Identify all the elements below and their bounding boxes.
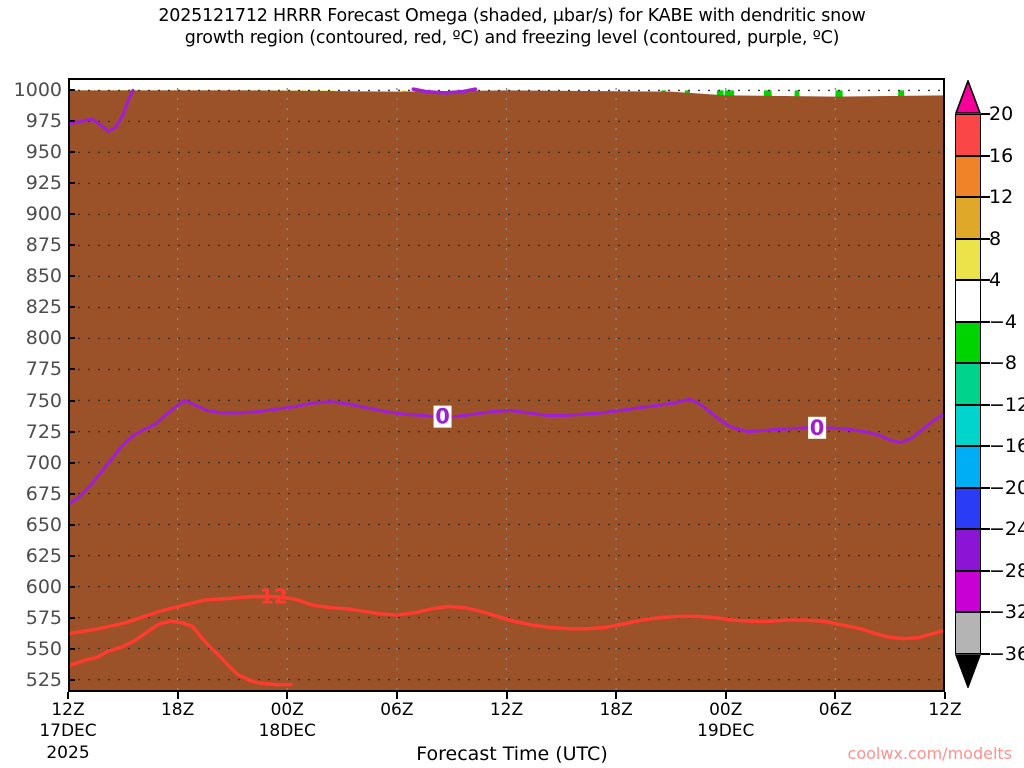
colorbar-swatch [955, 529, 981, 571]
y-tick-label: 700 [26, 452, 62, 474]
colorbar-tick-mark [981, 362, 990, 364]
x-tick-label: 12Z [928, 700, 961, 720]
x-axis-day-label: 19DEC [697, 721, 754, 741]
y-tick-label: 525 [26, 669, 62, 691]
colorbar-tick-label: 12 [989, 186, 1013, 208]
y-tick-label: 725 [26, 421, 62, 443]
colorbar-swatch [955, 612, 981, 654]
y-tick-label: 675 [26, 483, 62, 505]
y-tick-label: 650 [26, 514, 62, 536]
colorbar-tick-mark [981, 238, 990, 240]
x-tick-label: 06Z [819, 700, 852, 720]
title-line-1: 2025121712 HRRR Forecast Omega (shaded, … [0, 6, 1024, 28]
svg-text:0: 0 [435, 405, 450, 429]
colorbar-tick-label: 20 [989, 103, 1013, 125]
x-tick-label: 12Z [51, 700, 84, 720]
y-tick-label: 875 [26, 234, 62, 256]
colorbar-tick-label: 8 [989, 228, 1001, 250]
y-tick-mark [68, 368, 75, 370]
colorbar-tick-mark [981, 570, 990, 572]
y-tick-mark [68, 244, 75, 246]
colorbar-swatch [955, 363, 981, 405]
colorbar-tick-mark [981, 404, 990, 406]
y-tick-mark [68, 151, 75, 153]
y-tick-label: 825 [26, 296, 62, 318]
colorbar-tick-label: 4 [989, 269, 1001, 291]
colorbar-swatch [955, 156, 981, 198]
colorbar-extend-min [955, 654, 981, 688]
colorbar-tick-mark [981, 321, 990, 323]
y-axis: 5255505756006256506757007257507758008258… [0, 78, 62, 692]
colorbar-swatch [955, 405, 981, 447]
x-tick-label: 00Z [271, 700, 304, 720]
colorbar-tick-label: −20 [989, 477, 1024, 499]
x-tick-mark [834, 692, 836, 699]
x-tick-mark [286, 692, 288, 699]
y-tick-mark [68, 586, 75, 588]
colorbar-tick-label: −8 [989, 352, 1017, 374]
x-axis-day-label: 17DEC [39, 721, 96, 741]
y-tick-mark [68, 120, 75, 122]
y-tick-label: 975 [26, 110, 62, 132]
x-tick-label: 06Z [380, 700, 413, 720]
x-tick-mark [725, 692, 727, 699]
y-tick-mark [68, 524, 75, 526]
y-tick-label: 850 [26, 265, 62, 287]
y-tick-mark [68, 617, 75, 619]
x-tick-label: 12Z [490, 700, 523, 720]
colorbar-swatch [955, 197, 981, 239]
x-tick-label: 00Z [709, 700, 742, 720]
colorbar-tick-mark [981, 113, 990, 115]
y-tick-mark [68, 555, 75, 557]
svg-text:0: 0 [810, 416, 825, 440]
y-tick-label: 550 [26, 638, 62, 660]
colorbar-tick-mark [981, 196, 990, 198]
colorbar-tick-mark [981, 487, 990, 489]
plot-area[interactable]: −1200 [68, 78, 945, 692]
colorbar-tick-label: −28 [989, 560, 1024, 582]
x-tick-mark [396, 692, 398, 699]
y-tick-mark [68, 679, 75, 681]
y-tick-mark [68, 275, 75, 277]
colorbar-tick-label: −24 [989, 518, 1024, 540]
colorbar-swatch [955, 322, 981, 364]
x-tick-label: 18Z [161, 700, 194, 720]
y-tick-label: 800 [26, 327, 62, 349]
colorbar-swatch [955, 488, 981, 530]
colorbar-tick-label: −12 [989, 394, 1024, 416]
colorbar-tick-mark [981, 155, 990, 157]
colorbar: 20161284−4−8−12−16−20−24−28−32−36 [955, 80, 981, 688]
y-tick-label: 900 [26, 203, 62, 225]
colorbar-tick-label: −16 [989, 435, 1024, 457]
colorbar-tick-label: −36 [989, 643, 1024, 665]
y-tick-label: 600 [26, 576, 62, 598]
colorbar-tick-mark [981, 611, 990, 613]
y-tick-label: 950 [26, 141, 62, 163]
y-tick-mark [68, 493, 75, 495]
y-tick-label: 625 [26, 545, 62, 567]
x-tick-mark [944, 692, 946, 699]
x-tick-mark [177, 692, 179, 699]
colorbar-swatch [955, 571, 981, 613]
y-tick-mark [68, 213, 75, 215]
y-tick-mark [68, 431, 75, 433]
colorbar-swatch [955, 280, 981, 322]
x-axis-day-label: 18DEC [259, 721, 316, 741]
title-line-2: growth region (contoured, red, ºC) and f… [0, 28, 1024, 50]
y-tick-label: 750 [26, 390, 62, 412]
omega-shading: −1200 [68, 78, 945, 692]
colorbar-swatch [955, 446, 981, 488]
colorbar-tick-mark [981, 653, 990, 655]
y-tick-mark [68, 648, 75, 650]
colorbar-tick-label: −32 [989, 601, 1024, 623]
y-tick-mark [68, 306, 75, 308]
y-tick-mark [68, 462, 75, 464]
y-tick-label: 925 [26, 172, 62, 194]
x-tick-label: 18Z [599, 700, 632, 720]
x-axis-year-label: 2025 [46, 743, 89, 763]
y-tick-mark [68, 89, 75, 91]
y-tick-mark [68, 337, 75, 339]
y-tick-label: 775 [26, 358, 62, 380]
x-tick-mark [506, 692, 508, 699]
colorbar-tick-mark [981, 279, 990, 281]
y-tick-mark [68, 182, 75, 184]
x-tick-mark [67, 692, 69, 699]
svg-text:−12: −12 [243, 584, 288, 608]
colorbar-tick-label: 16 [989, 145, 1013, 167]
colorbar-tick-mark [981, 445, 990, 447]
colorbar-tick-mark [981, 528, 990, 530]
colorbar-tick-label: −4 [989, 311, 1017, 333]
colorbar-swatch [955, 239, 981, 281]
colorbar-extend-max [955, 80, 981, 114]
y-tick-label: 575 [26, 607, 62, 629]
colorbar-swatch [955, 114, 981, 156]
chart-title: 2025121712 HRRR Forecast Omega (shaded, … [0, 6, 1024, 49]
x-tick-mark [615, 692, 617, 699]
y-tick-mark [68, 400, 75, 402]
y-tick-label: 1000 [14, 79, 62, 101]
watermark: coolwx.com/modelts [848, 744, 1012, 763]
